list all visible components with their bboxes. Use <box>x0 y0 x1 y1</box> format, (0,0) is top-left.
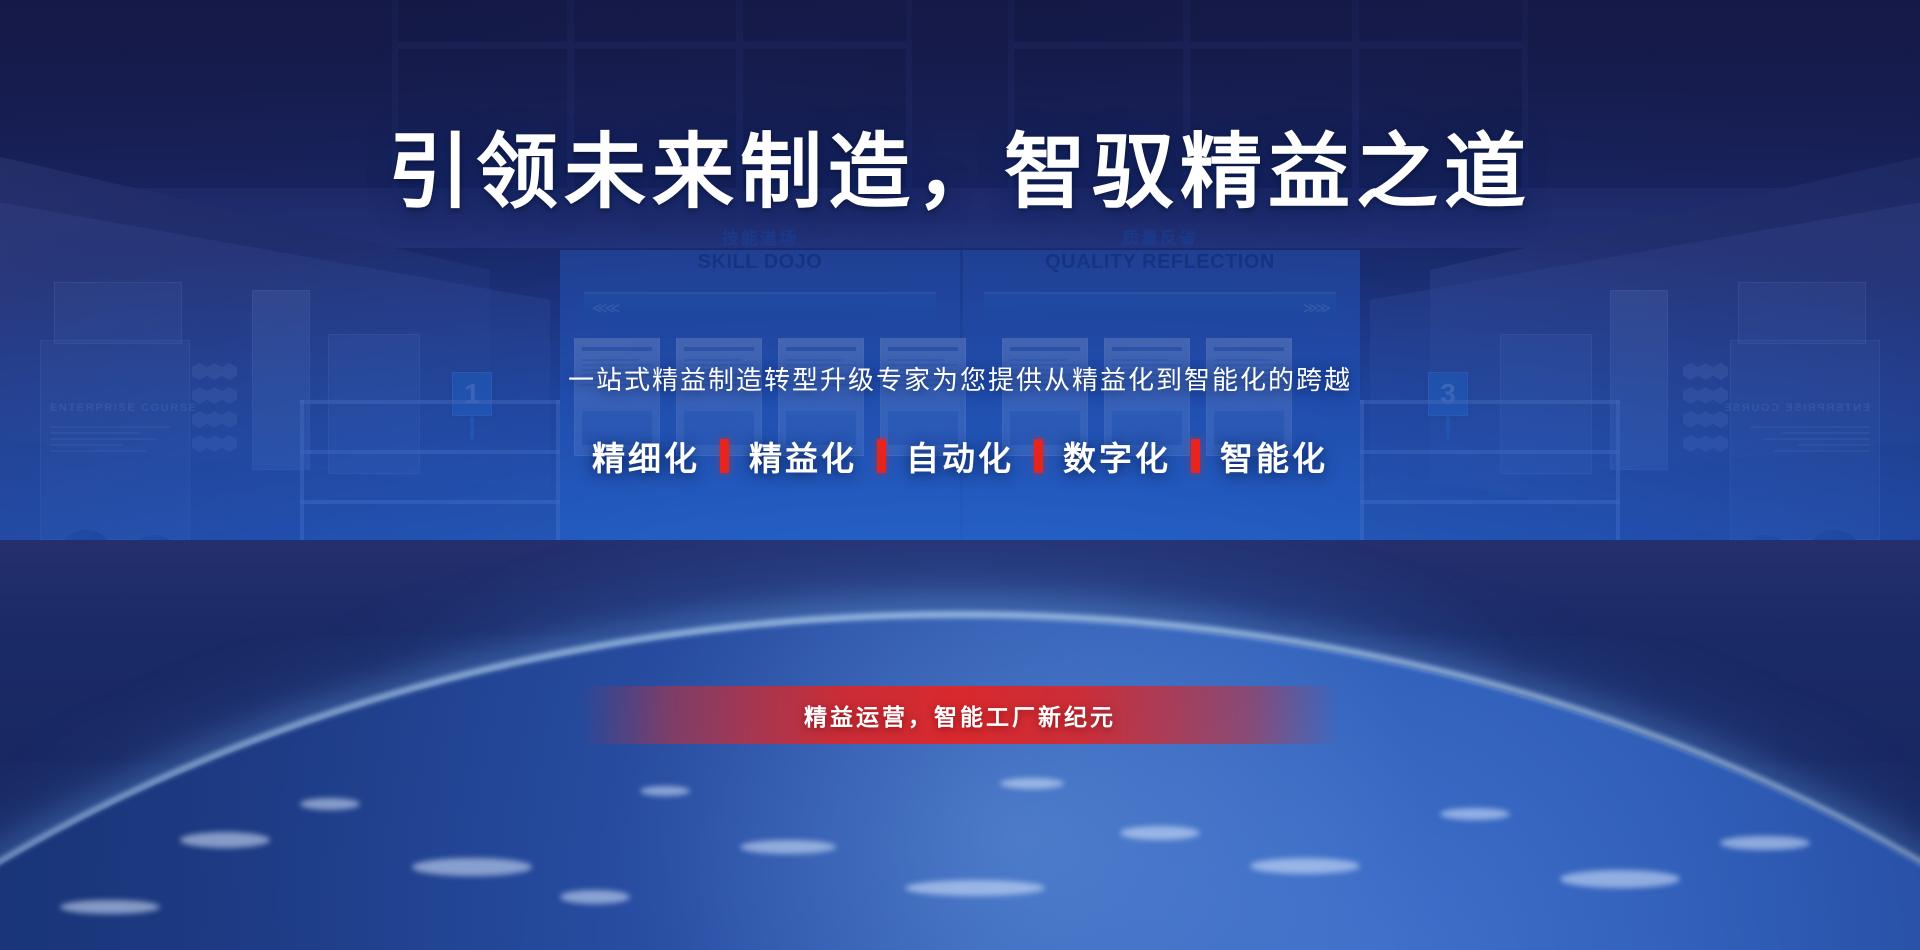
page-title: 引领未来制造，智驭精益之道 <box>0 128 1920 218</box>
keyword-separator <box>877 439 886 473</box>
tagline-text: 精益运营，智能工厂新纪元 <box>804 698 1116 732</box>
keyword-list: 精细化 精益化 自动化 数字化 智能化 <box>0 432 1920 480</box>
keyword-item: 自动化 <box>906 432 1014 480</box>
tagline-ribbon: 精益运营，智能工厂新纪元 <box>580 686 1340 744</box>
keyword-separator <box>1191 439 1200 473</box>
hero-content: 引领未来制造，智驭精益之道 一站式精益制造转型升级专家为您提供从精益化到智能化的… <box>0 0 1920 950</box>
keyword-separator <box>720 439 729 473</box>
keyword-item: 智能化 <box>1220 432 1328 480</box>
keyword-separator <box>1034 439 1043 473</box>
keyword-item: 精细化 <box>592 432 700 480</box>
keyword-item: 精益化 <box>749 432 857 480</box>
hero-banner: ENTERPRISE COURSE ENTERPRISE COURSE <box>0 0 1920 950</box>
hero-subtitle: 一站式精益制造转型升级专家为您提供从精益化到智能化的跨越 <box>0 360 1920 397</box>
keyword-item: 数字化 <box>1063 432 1171 480</box>
